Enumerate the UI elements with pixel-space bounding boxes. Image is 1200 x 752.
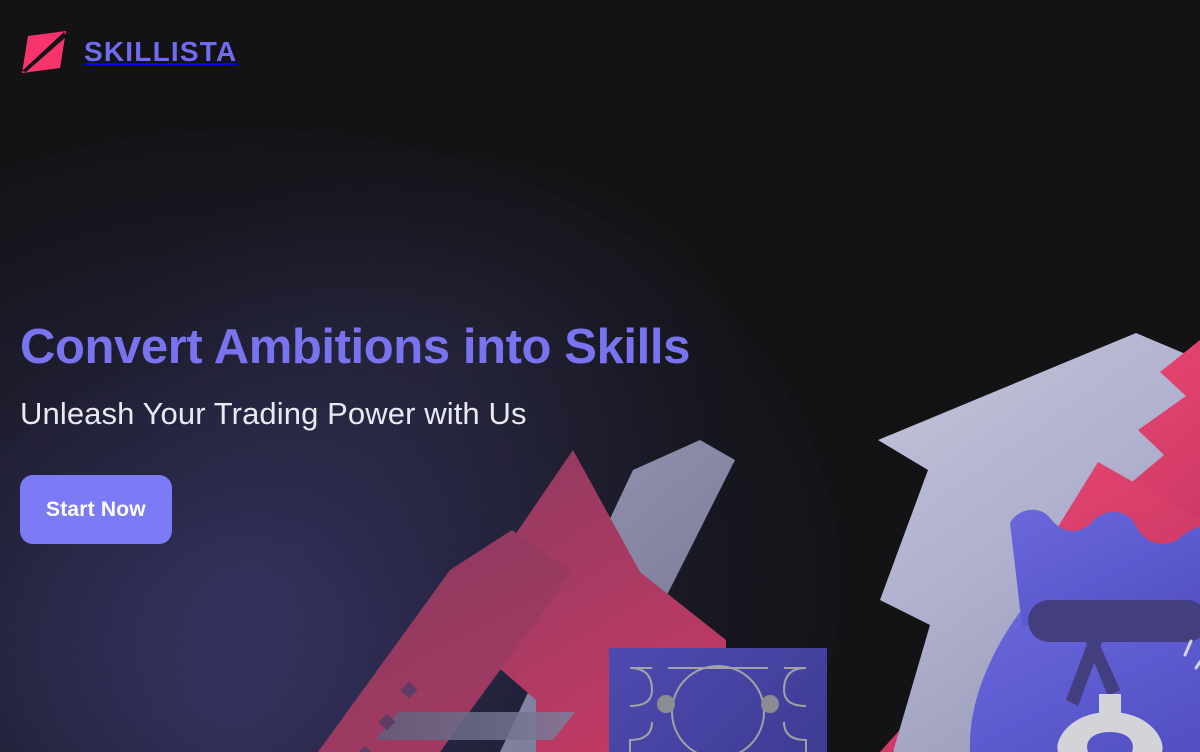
start-now-button[interactable]: Start Now xyxy=(20,475,172,544)
money-bag-tie-band xyxy=(1028,600,1200,642)
dollar-sign-icon xyxy=(1057,694,1162,752)
brand-logo[interactable]: SKILLISTA xyxy=(20,30,237,74)
thin-pink-line-group xyxy=(880,586,1040,752)
hero-section: Convert Ambitions into Skills Unleash Yo… xyxy=(20,320,780,544)
arrow-pink-upright xyxy=(1120,340,1200,560)
banknote xyxy=(609,648,827,752)
banknote-dot-left xyxy=(657,695,675,713)
money-bag xyxy=(970,510,1200,752)
slanted-parallelogram-logo-icon xyxy=(20,30,68,74)
arrow-pink-lower xyxy=(1040,462,1200,612)
money-bag-strap-right xyxy=(1086,636,1120,696)
chevron-arrow-crimson-2 xyxy=(318,530,572,752)
big-arrow-lavender xyxy=(878,333,1200,752)
banknote-dot-right xyxy=(761,695,779,713)
landing-page: SKILLISTA Convert Ambitions into Skills … xyxy=(0,0,1200,752)
parallelogram-strip xyxy=(376,712,575,740)
sparkle-ticks xyxy=(1185,641,1200,668)
site-header: SKILLISTA xyxy=(0,0,1200,104)
brand-wordmark: SKILLISTA xyxy=(84,38,237,66)
hero-subtitle: Unleash Your Trading Power with Us xyxy=(20,395,780,432)
hero-title: Convert Ambitions into Skills xyxy=(20,320,780,375)
money-bag-strap-left xyxy=(1066,636,1102,706)
dotted-diamonds xyxy=(357,682,418,752)
